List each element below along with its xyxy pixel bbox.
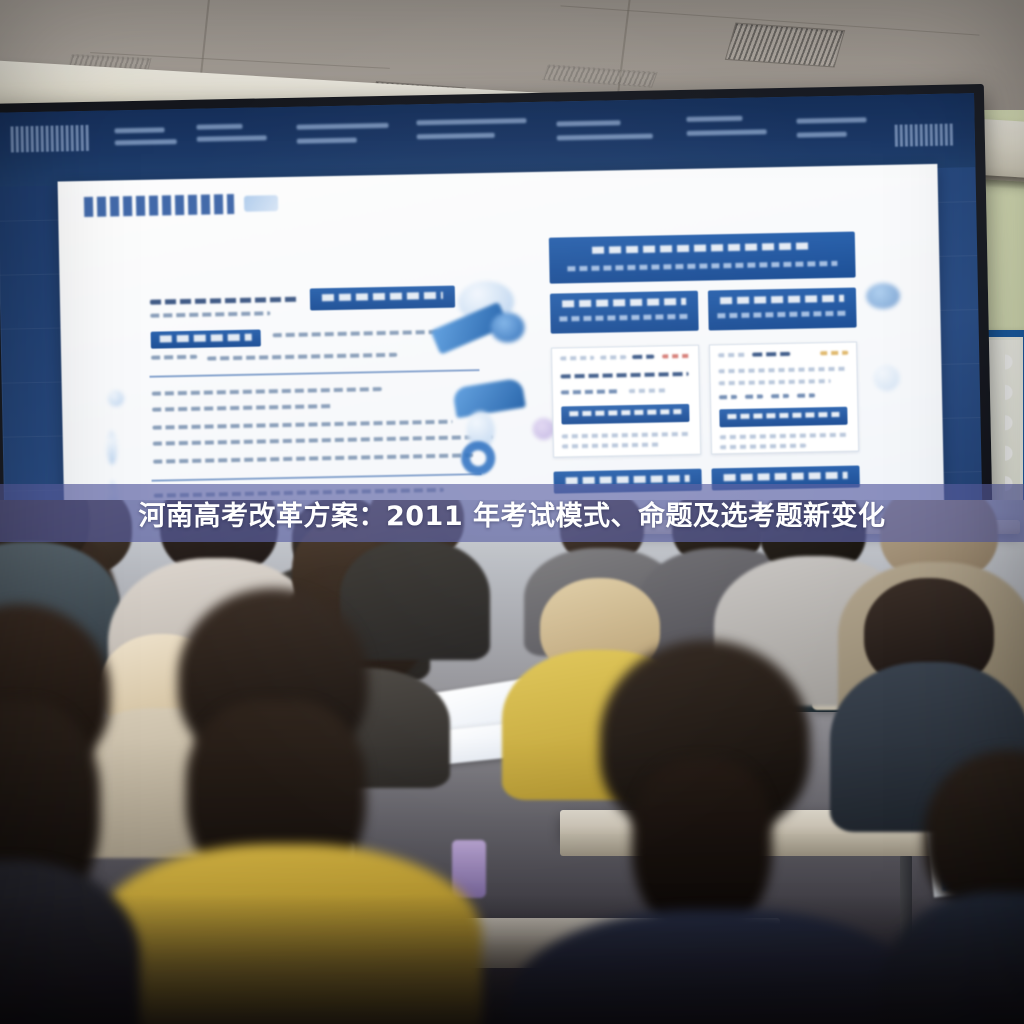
nav-text bbox=[686, 116, 742, 122]
section-heading bbox=[150, 297, 300, 305]
decor-dot bbox=[873, 365, 900, 392]
decor-ring bbox=[461, 441, 496, 476]
foreground-shadow bbox=[0, 894, 1024, 1024]
body-text bbox=[152, 404, 332, 412]
divider bbox=[149, 369, 479, 378]
nav-text bbox=[797, 132, 847, 138]
site-logo-mark bbox=[244, 195, 278, 212]
nav-text bbox=[296, 123, 388, 130]
decor-arrow bbox=[452, 378, 526, 419]
classroom-audience-area bbox=[0, 500, 1024, 1024]
section-subtext bbox=[150, 311, 270, 317]
body-text bbox=[151, 355, 197, 360]
slide-banner-heading bbox=[549, 232, 856, 284]
slide-subheading bbox=[708, 288, 857, 331]
nav-text bbox=[687, 129, 767, 136]
screenshot-root: 河南高考改革方案：2011 年考试模式、命题及选考题新变化 bbox=[0, 0, 1024, 1024]
body-text bbox=[153, 453, 473, 463]
body-text bbox=[152, 420, 452, 430]
decor-shape bbox=[490, 312, 525, 343]
nav-text bbox=[556, 120, 620, 126]
highlight-tag bbox=[310, 286, 455, 311]
body-text bbox=[152, 387, 382, 396]
body-text bbox=[273, 330, 453, 338]
nav-right-block bbox=[895, 124, 953, 147]
nav-text bbox=[796, 117, 866, 123]
slide-subheading bbox=[550, 291, 699, 334]
page-title: 河南高考改革方案：2011 年考试模式、命题及选考题新变化 bbox=[138, 494, 885, 533]
body-text bbox=[153, 435, 493, 446]
nav-text bbox=[416, 118, 526, 125]
divider bbox=[152, 473, 482, 482]
decor-dot bbox=[108, 390, 124, 406]
body-text bbox=[207, 353, 397, 361]
nav-text bbox=[115, 139, 177, 145]
decor-dash bbox=[107, 430, 118, 464]
decor-shape bbox=[866, 283, 901, 310]
site-logo bbox=[84, 194, 234, 217]
nav-text bbox=[197, 135, 267, 141]
nav-text bbox=[297, 138, 357, 144]
info-card bbox=[551, 345, 701, 458]
nav-logo-block bbox=[10, 125, 89, 153]
nav-text bbox=[557, 134, 653, 141]
nav-text bbox=[196, 124, 242, 130]
ceiling-vent-icon bbox=[725, 22, 845, 67]
highlight-tag bbox=[151, 329, 261, 348]
info-card bbox=[709, 342, 859, 455]
title-overlay-band: 河南高考改革方案：2011 年考试模式、命题及选考题新变化 bbox=[0, 484, 1024, 542]
nav-text bbox=[115, 127, 165, 133]
nav-text bbox=[417, 133, 495, 140]
